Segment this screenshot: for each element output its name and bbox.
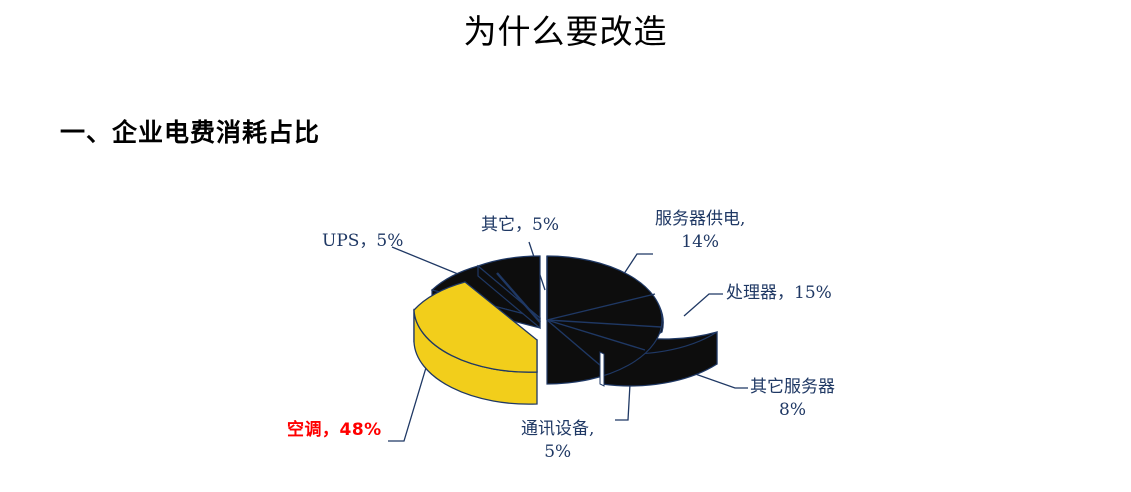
pie-dark-group: [547, 256, 717, 386]
pie-label-server-power-line1: 服务器供电,: [655, 208, 745, 231]
pie-label-other: 其它，5%: [481, 214, 559, 237]
pie-label-server-power: 服务器供电, 14%: [655, 208, 745, 254]
pie-label-communication-equipment-line1: 通讯设备,: [521, 418, 594, 441]
section-heading: 一、企业电费消耗占比: [60, 117, 320, 149]
pie-label-cpu: 处理器，15%: [726, 282, 832, 305]
pie-chart: UPS，5% 其它，5% 服务器供电, 14% 处理器，15% 其它服务器 8%…: [0, 170, 1131, 492]
pie-label-other-server: 其它服务器 8%: [750, 376, 835, 422]
leader-line-cpu: [684, 294, 723, 316]
page-title: 为什么要改造: [0, 12, 1131, 52]
leader-line-ac: [388, 361, 428, 441]
pie-label-ups: UPS，5%: [322, 230, 403, 253]
pie-label-communication-equipment-line2: 5%: [521, 441, 594, 464]
pie-label-server-power-line2: 14%: [655, 231, 745, 254]
pie-slice-gap-sliver: [600, 352, 604, 386]
pie-label-air-conditioning: 空调，48%: [287, 419, 382, 442]
pie-label-communication-equipment: 通讯设备, 5%: [521, 418, 594, 464]
pie-label-other-server-line1: 其它服务器: [750, 376, 835, 399]
slide-canvas: 为什么要改造 一、企业电费消耗占比: [0, 0, 1131, 492]
pie-label-other-server-line2: 8%: [750, 399, 835, 422]
